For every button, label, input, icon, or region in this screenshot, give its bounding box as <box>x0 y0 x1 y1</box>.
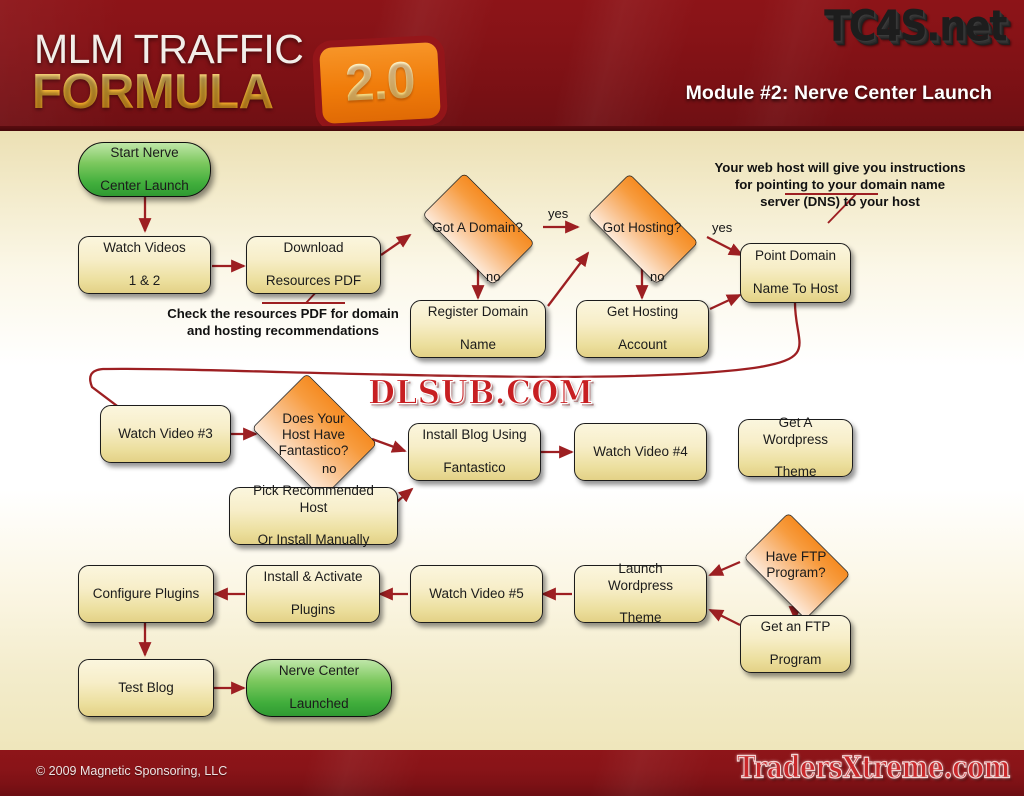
tradersxtreme-watermark: TradersXtreme.com <box>737 750 1010 784</box>
node-watch-video-3[interactable]: Watch Video #3 <box>100 405 231 463</box>
logo-line-2: FORMULA <box>32 64 273 120</box>
tc4s-watermark: TC4S.net <box>824 1 1006 50</box>
node-download-resources-pdf[interactable]: Download Resources PDF <box>246 236 381 294</box>
node-haveftp-line2: Program? <box>766 565 825 580</box>
annotation-dns-line3: server (DNS) to your host <box>760 194 920 209</box>
node-gethosting-line1: Get Hosting <box>602 304 683 320</box>
node-haveftp-label: Have FTP Program? <box>735 549 857 581</box>
node-watch-video-4[interactable]: Watch Video #4 <box>574 423 707 481</box>
node-pick-recommended-host[interactable]: Pick Recommended Host Or Install Manuall… <box>229 487 398 545</box>
node-getftp-line1: Get an FTP <box>756 619 836 635</box>
node-does-your-host-have-fantastico[interactable]: Does Your Host Have Fantastico? <box>244 381 383 489</box>
annotation-dns-line2: for pointing to your domain name <box>735 177 945 192</box>
node-get-a-wordpress-theme[interactable]: Get A Wordpress Theme <box>738 419 853 477</box>
annotation-pdf-line2: and hosting recommendations <box>187 323 379 338</box>
node-install-blog-using-fantastico[interactable]: Install Blog Using Fantastico <box>408 423 541 481</box>
node-watch-videos-1-2[interactable]: Watch Videos 1 & 2 <box>78 236 211 294</box>
node-watch12-line1: Watch Videos <box>98 240 191 256</box>
node-have-ftp-program[interactable]: Have FTP Program? <box>735 521 857 609</box>
node-launchtheme-line1: Launch Wordpress <box>580 561 701 594</box>
node-downloadpdf-line2: Resources PDF <box>261 273 366 289</box>
node-start[interactable]: Start Nerve Center Launch <box>78 142 211 197</box>
node-launched-line2: Launched <box>274 696 364 712</box>
node-wptheme-line2: Theme <box>744 464 847 480</box>
node-fantastico-line3: Fantastico? <box>279 443 349 458</box>
node-watch3-label: Watch Video #3 <box>113 426 218 442</box>
edge-gethosting-pointdomain <box>710 295 740 309</box>
logo-version-badge: 2.0 <box>319 42 441 124</box>
logo-version-text: 2.0 <box>319 49 440 115</box>
node-installplug-line1: Install & Activate <box>258 569 367 585</box>
annotation-dns-line1: Your web host will give you instructions <box>714 160 965 175</box>
node-testblog-label: Test Blog <box>113 680 179 696</box>
node-installplug-line2: Plugins <box>258 602 367 618</box>
node-gotdomain-label: Got A Domain? <box>408 220 547 236</box>
node-pointdomain-line1: Point Domain <box>748 248 843 264</box>
annotation-pdf-line1: Check the resources PDF for domain <box>167 306 399 321</box>
node-watch5-label: Watch Video #5 <box>424 586 529 602</box>
page-header: MLM TRAFFIC FORMULA 2.0 TC4S.net Module … <box>0 0 1024 131</box>
annotation-dns-instructions: Your web host will give you instructions… <box>700 159 980 210</box>
annotation-resources-pdf: Check the resources PDF for domain and h… <box>158 305 408 339</box>
node-start-line1: Start Nerve <box>95 145 194 161</box>
node-get-an-ftp-program[interactable]: Get an FTP Program <box>740 615 851 673</box>
node-fantastico-line1: Does Your <box>282 411 344 426</box>
edge-getftp-launchtheme <box>710 610 740 625</box>
node-gethosting-line2: Account <box>602 337 683 353</box>
edge-downloadpdf-gotdomain <box>381 235 410 255</box>
node-watch-video-5[interactable]: Watch Video #5 <box>410 565 543 623</box>
edge-gothosting-pointdomain <box>707 237 742 255</box>
node-regdomain-line1: Register Domain <box>423 304 534 320</box>
edge-label-no-hosting: no <box>650 269 664 284</box>
copyright-text: © 2009 Magnetic Sponsoring, LLC <box>36 764 227 778</box>
module-title: Module #2: Nerve Center Launch <box>686 82 992 105</box>
node-got-a-domain[interactable]: Got A Domain? <box>408 187 547 269</box>
edge-label-no-fantastico: no <box>322 461 336 476</box>
node-register-domain-name[interactable]: Register Domain Name <box>410 300 546 358</box>
node-haveftp-line1: Have FTP <box>766 549 827 564</box>
edge-label-no-domain: no <box>486 269 500 284</box>
node-start-line2: Center Launch <box>95 178 194 194</box>
brand-logo: MLM TRAFFIC FORMULA 2.0 <box>30 26 440 118</box>
node-get-hosting-account[interactable]: Get Hosting Account <box>576 300 709 358</box>
node-fantastico-line2: Host Have <box>282 427 345 442</box>
flowchart-canvas: Start Nerve Center Launch Watch Videos 1… <box>0 131 1024 750</box>
node-gothosting-label: Got Hosting? <box>574 220 710 236</box>
node-pickhost-line1: Pick Recommended Host <box>235 483 392 516</box>
node-got-hosting[interactable]: Got Hosting? <box>574 187 710 269</box>
node-pickhost-line2: Or Install Manually <box>235 532 392 548</box>
node-pointdomain-line2: Name To Host <box>748 281 843 297</box>
node-install-activate-plugins[interactable]: Install & Activate Plugins <box>246 565 380 623</box>
node-launch-wordpress-theme[interactable]: Launch Wordpress Theme <box>574 565 707 623</box>
node-test-blog[interactable]: Test Blog <box>78 659 214 717</box>
node-watch4-label: Watch Video #4 <box>588 444 693 460</box>
node-nerve-center-launched[interactable]: Nerve Center Launched <box>246 659 392 717</box>
node-launched-line1: Nerve Center <box>274 663 364 679</box>
node-wptheme-line1: Get A Wordpress <box>744 415 847 448</box>
flowchart-page: MLM TRAFFIC FORMULA 2.0 TC4S.net Module … <box>0 0 1024 796</box>
edge-label-yes-hosting: yes <box>712 220 732 235</box>
node-installblog-line2: Fantastico <box>417 460 531 476</box>
node-installblog-line1: Install Blog Using <box>417 427 531 443</box>
node-launchtheme-line2: Theme <box>580 610 701 626</box>
node-point-domain-name-to-host[interactable]: Point Domain Name To Host <box>740 243 851 303</box>
page-footer: © 2009 Magnetic Sponsoring, LLC TradersX… <box>0 750 1024 796</box>
node-getftp-line2: Program <box>756 652 836 668</box>
node-watch12-line2: 1 & 2 <box>98 273 191 289</box>
node-configure-plugins[interactable]: Configure Plugins <box>78 565 214 623</box>
node-regdomain-line2: Name <box>423 337 534 353</box>
node-configplug-label: Configure Plugins <box>88 586 205 602</box>
edge-label-yes-domain: yes <box>548 206 568 221</box>
node-fantastico-label: Does Your Host Have Fantastico? <box>244 411 383 460</box>
node-downloadpdf-line1: Download <box>261 240 366 256</box>
